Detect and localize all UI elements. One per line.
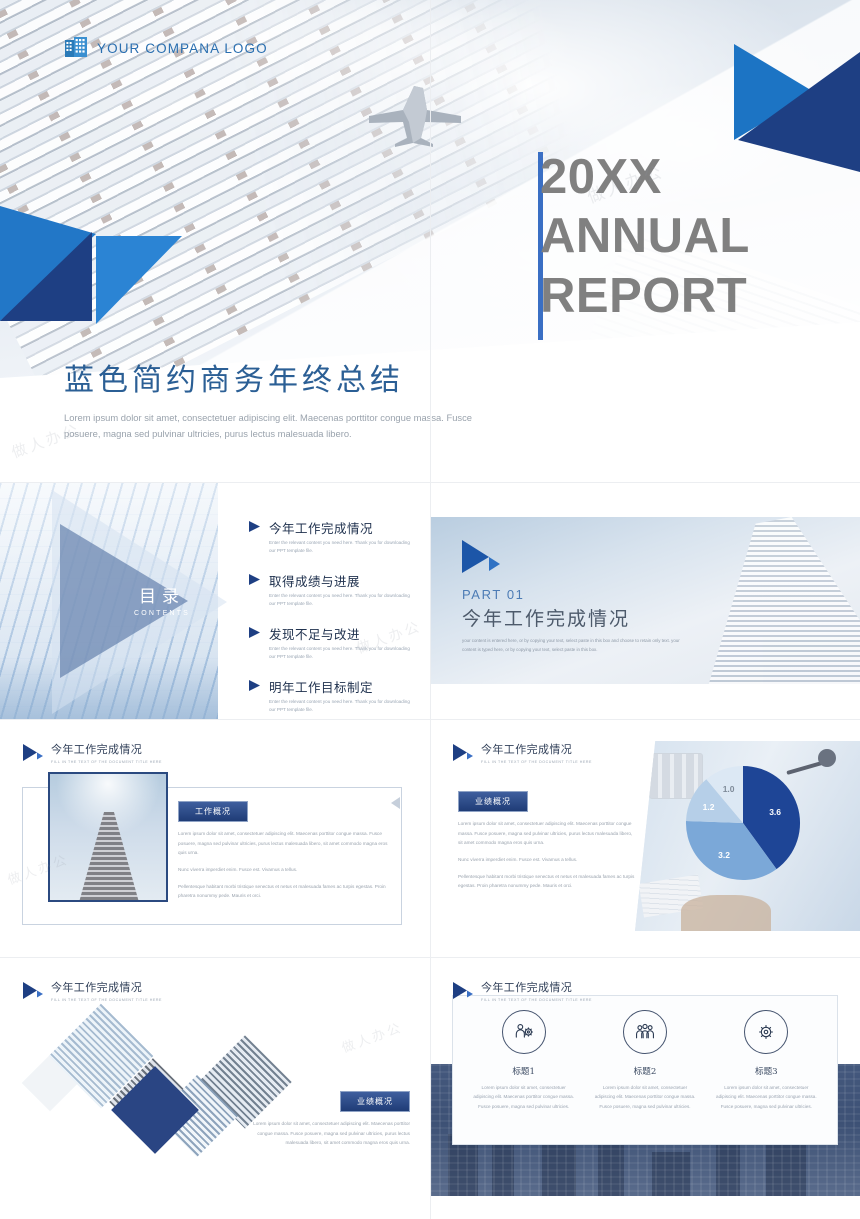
toc-item-title: 发现不足与改进 xyxy=(269,624,414,643)
diamond-text-block: 业绩概况 Lorem ipsum dolor sit amet, consect… xyxy=(252,1091,410,1148)
pie-label-1: 3.2 xyxy=(718,850,730,860)
section-header: 今年工作完成情况 FILL IN THE TEXT OF THE DOCUMEN… xyxy=(22,979,162,1002)
work-overview-card: 工作概况 Lorem ipsum dolor sit amet, consect… xyxy=(178,801,391,901)
body-paragraph: Lorem ipsum dolor sit amet, consectetuer… xyxy=(458,819,638,848)
feature-title: 标题3 xyxy=(714,1065,819,1077)
subtitle-cn: 蓝色简约商务年终总结 xyxy=(64,355,509,399)
airplane-icon xyxy=(365,82,470,148)
body-paragraph: Pellentesque habitant morbi tristique se… xyxy=(178,882,391,901)
building-block xyxy=(542,1144,576,1196)
part-text-block: PART 01 今年工作完成情况 your content is entered… xyxy=(462,587,687,655)
feature-column[interactable]: 标题1 Lorem ipsum dolor sit amet, consecte… xyxy=(463,1010,584,1134)
building-block xyxy=(652,1152,690,1196)
part-desc: your content is entered here, or by copy… xyxy=(462,637,687,655)
play-arrow-icon xyxy=(248,679,261,692)
play-arrow-icon xyxy=(22,742,44,764)
section-subtitle: FILL IN THE TEXT OF THE DOCUMENT TITLE H… xyxy=(51,760,162,764)
list-item[interactable]: 今年工作完成情况 Enter the relevant content you … xyxy=(248,518,418,556)
section-subtitle: FILL IN THE TEXT OF THE DOCUMENT TITLE H… xyxy=(51,998,162,1002)
status-badge: 业绩概况 xyxy=(458,791,528,812)
contents-label-cn: 目录 xyxy=(122,582,202,607)
body-paragraph: Pellentesque habitant morbi tristique se… xyxy=(458,872,638,891)
feature-panel: 标题1 Lorem ipsum dolor sit amet, consecte… xyxy=(452,995,838,1145)
toc-item-desc: Enter the relevant content you need here… xyxy=(269,592,414,609)
section-header: 今年工作完成情况 FILL IN THE TEXT OF THE DOCUMEN… xyxy=(452,741,592,764)
play-arrow-icon xyxy=(248,626,261,639)
people-group-icon xyxy=(623,1010,667,1054)
part-01-slide: PART 01 今年工作完成情况 your content is entered… xyxy=(430,482,860,719)
company-logo[interactable]: YOUR COMPANA LOGO xyxy=(64,36,268,60)
toc-item-desc: Enter the relevant content you need here… xyxy=(269,539,414,556)
play-arrow-icon xyxy=(462,540,500,580)
section-subtitle: FILL IN THE TEXT OF THE DOCUMENT TITLE H… xyxy=(481,760,592,764)
cup-object xyxy=(818,749,836,767)
pie-label-0: 3.6 xyxy=(769,807,781,817)
section-title: 今年工作完成情况 xyxy=(481,741,592,757)
list-item[interactable]: 明年工作目标制定 Enter the relevant content you … xyxy=(248,677,418,715)
person-gear-icon xyxy=(502,1010,546,1054)
pie-label-2: 1.2 xyxy=(703,802,715,812)
section-title: 今年工作完成情况 xyxy=(51,979,162,995)
feature-title: 标题2 xyxy=(592,1065,697,1077)
feature-text: Lorem ipsum dolor sit amet, consectetuer… xyxy=(471,1083,576,1111)
left-pointer-icon xyxy=(391,797,400,809)
feature-text: Lorem ipsum dolor sit amet, consectetuer… xyxy=(592,1083,697,1111)
title-annual: ANNUAL xyxy=(540,209,750,263)
cover-subtitle-block: 蓝色简约商务年终总结 Lorem ipsum dolor sit amet, c… xyxy=(64,355,509,442)
logo-label: YOUR COMPANA LOGO xyxy=(97,41,268,56)
contents-list: 今年工作完成情况 Enter the relevant content you … xyxy=(248,518,418,719)
play-arrow-icon xyxy=(452,742,474,764)
section-header: 今年工作完成情况 FILL IN THE TEXT OF THE DOCUMEN… xyxy=(22,741,162,764)
gear-icon xyxy=(744,1010,788,1054)
toc-item-desc: Enter the relevant content you need here… xyxy=(269,645,414,662)
play-arrow-icon xyxy=(22,980,44,1002)
feature-column[interactable]: 标题2 Lorem ipsum dolor sit amet, consecte… xyxy=(584,1010,705,1134)
three-feature-slide: 今年工作完成情况 FILL IN THE TEXT OF THE DOCUMEN… xyxy=(430,957,860,1196)
play-arrow-icon xyxy=(248,520,261,533)
status-badge: 业绩概况 xyxy=(340,1091,410,1112)
performance-text-block: 业绩概况 Lorem ipsum dolor sit amet, consect… xyxy=(458,791,638,891)
part-title: 今年工作完成情况 xyxy=(462,604,687,631)
feature-text: Lorem ipsum dolor sit amet, consectetuer… xyxy=(714,1083,819,1111)
body-paragraph: Nunc viverra imperdiet enim. Fusce est. … xyxy=(178,865,391,875)
contents-label-en: CONTENTS xyxy=(122,610,202,617)
title-report: REPORT xyxy=(540,269,747,323)
toc-item-title: 明年工作目标制定 xyxy=(269,677,414,696)
list-item[interactable]: 发现不足与改进 Enter the relevant content you n… xyxy=(248,624,418,662)
contents-slide: 目录 CONTENTS 今年工作完成情况 Enter the relevant … xyxy=(0,482,430,719)
play-arrow-icon xyxy=(248,573,261,586)
body-paragraph: Lorem ipsum dolor sit amet, consectetuer… xyxy=(178,829,391,858)
list-item[interactable]: 取得成绩与进展 Enter the relevant content you n… xyxy=(248,571,418,609)
section-subtitle: FILL IN THE TEXT OF THE DOCUMENT TITLE H… xyxy=(481,998,592,1002)
hand-object xyxy=(681,895,771,935)
pie-label-3: 1.0 xyxy=(723,784,735,794)
pie-chart: 3.6 3.2 1.2 1.0 xyxy=(684,764,802,882)
watermark: 做人办公 xyxy=(339,1017,406,1057)
toc-item-title: 取得成绩与进展 xyxy=(269,571,414,590)
subtitle-en: Lorem ipsum dolor sit amet, consectetuer… xyxy=(64,410,509,442)
part-label: PART 01 xyxy=(462,587,687,602)
building-block xyxy=(766,1140,806,1196)
section-title: 今年工作完成情况 xyxy=(51,741,162,757)
body-paragraph: Nunc viverra imperdiet enim. Fusce est. … xyxy=(458,855,638,865)
tower-photo xyxy=(48,772,168,902)
body-paragraph: Lorem ipsum dolor sit amet, consectetuer… xyxy=(252,1119,410,1148)
toc-item-title: 今年工作完成情况 xyxy=(269,518,414,537)
feature-title: 标题1 xyxy=(471,1065,576,1077)
play-arrow-icon xyxy=(452,980,474,1002)
pie-chart-svg xyxy=(684,764,802,882)
status-badge: 工作概况 xyxy=(178,801,248,822)
tower-shape xyxy=(78,812,140,902)
left-triangles xyxy=(0,196,182,332)
diamond-gallery-slide: 今年工作完成情况 FILL IN THE TEXT OF THE DOCUMEN… xyxy=(0,957,430,1196)
toc-item-desc: Enter the relevant content you need here… xyxy=(269,698,414,715)
section-title: 今年工作完成情况 xyxy=(481,979,592,995)
work-overview-slide: 今年工作完成情况 FILL IN THE TEXT OF THE DOCUMEN… xyxy=(0,719,430,957)
building-icon xyxy=(64,36,88,60)
contents-label: 目录 CONTENTS xyxy=(122,582,202,617)
column-divider xyxy=(430,0,431,1219)
section-header: 今年工作完成情况 FILL IN THE TEXT OF THE DOCUMEN… xyxy=(452,979,592,1002)
feature-column[interactable]: 标题3 Lorem ipsum dolor sit amet, consecte… xyxy=(706,1010,827,1134)
cover-title: 20XX ANNUAL REPORT xyxy=(540,148,750,326)
title-year: 20XX xyxy=(540,150,662,204)
performance-pie-slide: 今年工作完成情况 FILL IN THE TEXT OF THE DOCUMEN… xyxy=(430,719,860,957)
